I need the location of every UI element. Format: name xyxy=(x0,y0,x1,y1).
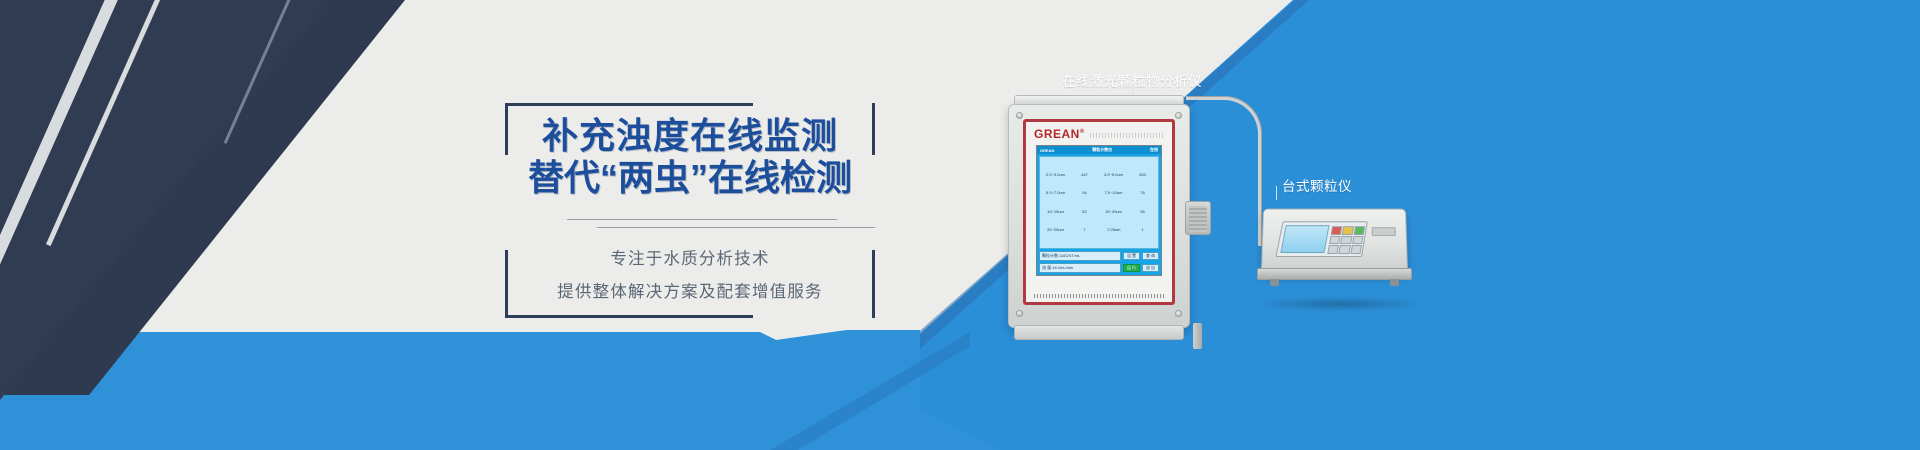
reading-cell: 20~25um xyxy=(1041,227,1070,233)
display-button-run[interactable]: 运 行 xyxy=(1123,264,1140,272)
benchtop-particle-counter xyxy=(1262,208,1407,300)
display-status: 在线 xyxy=(1150,147,1158,153)
reading-cell: 15~20um xyxy=(1099,209,1128,215)
subtitle-line-1: 专注于水质分析技术 xyxy=(505,245,875,269)
display-subtitle: 颗粒计数仪 xyxy=(1092,147,1112,153)
analyzer-screw xyxy=(1016,310,1023,317)
analyzer-footer-rule xyxy=(1034,294,1164,298)
analyzer-display[interactable]: GREAN 颗粒计数仪 在线 2.0~3.0um 447 3.0~5.0um 4… xyxy=(1036,145,1162,276)
online-laser-particle-analyzer: GREAN® GREAN 颗粒计数仪 在线 2.0~3.0um 447 3.0~… xyxy=(1008,104,1190,328)
analyzer-brand: GREAN® xyxy=(1034,127,1085,141)
bench-housing xyxy=(1261,209,1408,275)
reading-cell: 447 xyxy=(1070,172,1099,178)
divider-group xyxy=(567,219,875,233)
reading-cell: 94 xyxy=(1070,190,1099,196)
bench-key[interactable] xyxy=(1352,236,1364,245)
reading-cell: 7.0~10um xyxy=(1099,190,1128,196)
bench-key[interactable] xyxy=(1340,236,1352,245)
display-row-flow: 流 量:18.2mL/min 运 行 退 出 xyxy=(1039,263,1159,273)
flow-rate-field: 流 量:18.2mL/min xyxy=(1039,263,1121,273)
display-readings-grid: 2.0~3.0um 447 3.0~5.0um 454 5.0~7.0um 94… xyxy=(1039,156,1159,249)
analyzer-brand-text: GREAN xyxy=(1034,127,1080,141)
headline-block: 补充浊度在线监测 替代“两虫”在线检测 专注于水质分析技术 提供整体解决方案及配… xyxy=(505,103,875,318)
display-row-count: 颗粒计数:116CNT/mL 设 置 查 询 xyxy=(1039,251,1159,261)
reading-cell: 1 xyxy=(1128,227,1157,233)
divider-upper xyxy=(567,219,837,220)
display-titlebar: GREAN 颗粒计数仪 在线 xyxy=(1037,146,1161,154)
display-button-query[interactable]: 查 询 xyxy=(1142,252,1159,260)
analyzer-brand-rule xyxy=(1090,133,1164,138)
bench-foot xyxy=(1270,279,1279,286)
analyzer-bottom-cap xyxy=(1014,325,1184,340)
display-button-exit[interactable]: 退 出 xyxy=(1142,264,1159,272)
analyzer-screw xyxy=(1016,112,1023,119)
headline-line-2: 替代“两虫”在线检测 xyxy=(505,157,875,199)
bench-base xyxy=(1257,268,1412,280)
analyzer-drain-stem xyxy=(1193,323,1202,349)
reading-cell: 454 xyxy=(1128,172,1157,178)
bracket-bottom-left xyxy=(505,315,753,318)
bench-display xyxy=(1280,225,1329,253)
analyzer-sensor-port xyxy=(1185,201,1211,235)
bench-key[interactable] xyxy=(1329,236,1341,245)
reading-cell: 52 xyxy=(1070,209,1099,215)
reading-cell: 3.0~5.0um xyxy=(1099,172,1128,178)
bench-key[interactable] xyxy=(1339,245,1351,254)
bench-leader-line xyxy=(1276,186,1277,200)
reading-cell: 35 xyxy=(1128,209,1157,215)
registered-mark-icon: ® xyxy=(1080,129,1085,135)
analyzer-screw xyxy=(1175,310,1182,317)
bench-key-red[interactable] xyxy=(1331,226,1343,235)
subtitle-line-2: 提供整体解决方案及配套增值服务 xyxy=(505,278,875,302)
bench-label: 台式颗粒仪 xyxy=(1282,175,1352,195)
bench-key[interactable] xyxy=(1350,245,1362,254)
promo-banner: 补充浊度在线监测 替代“两虫”在线检测 专注于水质分析技术 提供整体解决方案及配… xyxy=(0,0,1920,450)
bench-keypad[interactable] xyxy=(1327,226,1365,254)
reading-cell: 10~15um xyxy=(1041,209,1070,215)
reading-cell: 7 xyxy=(1070,227,1099,233)
bench-foot xyxy=(1390,279,1399,286)
bench-key[interactable] xyxy=(1327,245,1339,254)
reading-cell: 5.0~7.0um xyxy=(1041,190,1070,196)
divider-lower xyxy=(597,227,875,228)
page-title: 补充浊度在线监测 替代“两虫”在线检测 xyxy=(505,115,875,199)
reading-cell: 76 xyxy=(1128,190,1157,196)
bench-key-yellow[interactable] xyxy=(1342,226,1354,235)
bench-key-green[interactable] xyxy=(1353,226,1365,235)
reading-cell: ＞25um xyxy=(1099,227,1128,233)
headline-line-1: 补充浊度在线监测 xyxy=(505,115,875,157)
bench-badge xyxy=(1372,227,1396,236)
particle-count-field: 颗粒计数:116CNT/mL xyxy=(1039,251,1121,261)
bench-control-panel xyxy=(1275,221,1367,257)
display-button-settings[interactable]: 设 置 xyxy=(1123,252,1140,260)
analyzer-screw xyxy=(1175,112,1182,119)
display-brand: GREAN xyxy=(1040,148,1054,153)
reading-cell: 2.0~3.0um xyxy=(1041,172,1070,178)
bracket-top-left xyxy=(505,103,753,106)
analyzer-front-panel: GREAN® GREAN 颗粒计数仪 在线 2.0~3.0um 447 3.0~… xyxy=(1023,119,1175,305)
analyzer-enclosure: GREAN® GREAN 颗粒计数仪 在线 2.0~3.0um 447 3.0~… xyxy=(1008,104,1190,328)
